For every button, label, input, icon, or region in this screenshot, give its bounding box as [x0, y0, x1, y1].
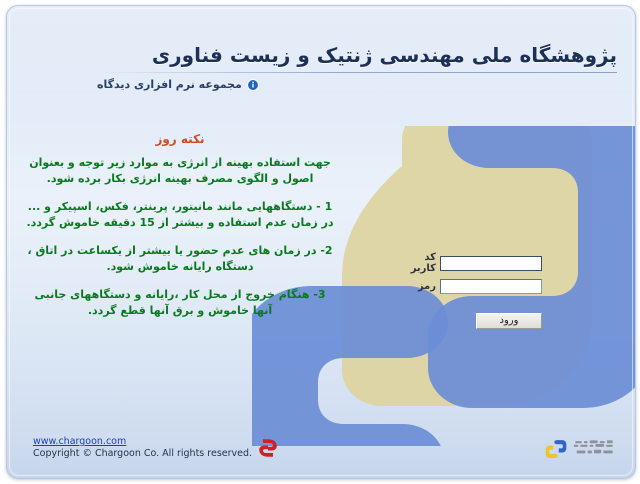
password-row: رمز [397, 279, 542, 294]
login-page: پژوهشگاه ملی مهندسی ژنتیک و زیست فناوری … [0, 0, 640, 484]
tip-of-the-day: نکته روز جهت استفاده بهینه از انرژی به م… [25, 132, 335, 319]
login-form: کد کاربر رمز ورود [397, 252, 542, 329]
copyright-text: Copyright © Chargoon Co. All rights rese… [33, 448, 252, 460]
tip-paragraph: 2- در زمان های عدم حضور یا بیشتر از یکسا… [25, 243, 335, 275]
didgah-hamrah-wordmark [571, 438, 617, 460]
login-button[interactable]: ورود [476, 313, 542, 329]
title-divider [97, 72, 617, 73]
footer-text: www.chargoon.com Copyright © Chargoon Co… [33, 436, 252, 460]
tip-paragraph: 1 - دستگاههایی مانند مانیتور، پرینتر، فک… [25, 199, 335, 231]
footer-branding-right [545, 438, 617, 460]
password-label: رمز [397, 281, 440, 292]
username-input[interactable] [440, 256, 542, 271]
username-label: کد کاربر [397, 252, 440, 274]
tip-paragraph: 3- هنگام خروج از محل کار ،رایانه و دستگا… [25, 287, 335, 319]
chargoon-pinwheel-icon [258, 438, 278, 458]
submit-row: ورود [399, 308, 542, 329]
password-input[interactable] [440, 279, 542, 294]
main-panel: پژوهشگاه ملی مهندسی ژنتیک و زیست فناوری … [6, 5, 636, 479]
tip-paragraph: جهت استفاده بهینه از انرژی به موارد زیر … [25, 155, 335, 187]
header: پژوهشگاه ملی مهندسی ژنتیک و زیست فناوری … [97, 42, 617, 91]
page-title: پژوهشگاه ملی مهندسی ژنتیک و زیست فناوری [97, 42, 617, 68]
footer-branding-left: www.chargoon.com Copyright © Chargoon Co… [33, 436, 278, 460]
info-icon[interactable] [247, 79, 259, 91]
subtitle: مجموعه نرم افزاری دیدگاه [97, 78, 242, 91]
tip-title: نکته روز [25, 132, 335, 146]
tip-body: جهت استفاده بهینه از انرژی به موارد زیر … [25, 155, 335, 319]
username-row: کد کاربر [397, 252, 542, 274]
didgah-chainlink-icon [545, 438, 567, 460]
subtitle-row: مجموعه نرم افزاری دیدگاه [97, 78, 617, 91]
chargoon-website-link[interactable]: www.chargoon.com [33, 436, 252, 447]
